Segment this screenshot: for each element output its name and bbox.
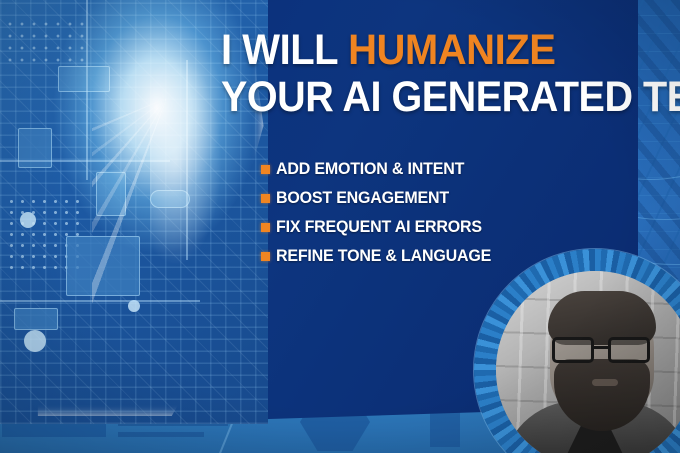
bullet-square-icon — [261, 252, 270, 261]
solder-pad-1 — [20, 212, 36, 228]
portrait-ring — [474, 249, 680, 453]
list-item-label: FIX FREQUENT AI ERRORS — [276, 218, 482, 237]
band-line-4 — [118, 432, 204, 437]
headline-accent-word: HUMANIZE — [348, 26, 555, 74]
avatar — [496, 271, 680, 453]
feature-list: ADD EMOTION & INTENT BOOST ENGAGEMENT FI… — [261, 155, 498, 271]
portrait-mouth — [592, 379, 618, 386]
bullet-square-icon — [261, 223, 270, 232]
headline-line-1: I WILL HUMANIZE — [221, 27, 621, 74]
glasses-bridge — [594, 346, 608, 349]
bullet-square-icon — [261, 194, 270, 203]
glasses-right-lens — [608, 337, 650, 363]
list-item: ADD EMOTION & INTENT — [261, 155, 498, 184]
list-item: FIX FREQUENT AI ERRORS — [261, 213, 498, 242]
bullet-square-icon — [261, 165, 270, 174]
list-item: REFINE TONE & LANGUAGE — [261, 242, 498, 271]
headline-line-2: YOUR AI GENERATED TEXT — [221, 74, 621, 121]
glasses-left-lens — [552, 337, 594, 363]
list-item-label: REFINE TONE & LANGUAGE — [276, 247, 491, 266]
gig-banner: I WILL HUMANIZE YOUR AI GENERATED TEXT A… — [0, 0, 680, 453]
list-item: BOOST ENGAGEMENT — [261, 184, 498, 213]
glasses-icon — [552, 337, 656, 363]
list-item-label: BOOST ENGAGEMENT — [276, 189, 449, 208]
headline-line-1-prefix: I WILL — [221, 26, 348, 74]
list-item-label: ADD EMOTION & INTENT — [276, 160, 464, 179]
headline: I WILL HUMANIZE YOUR AI GENERATED TEXT — [221, 27, 651, 121]
